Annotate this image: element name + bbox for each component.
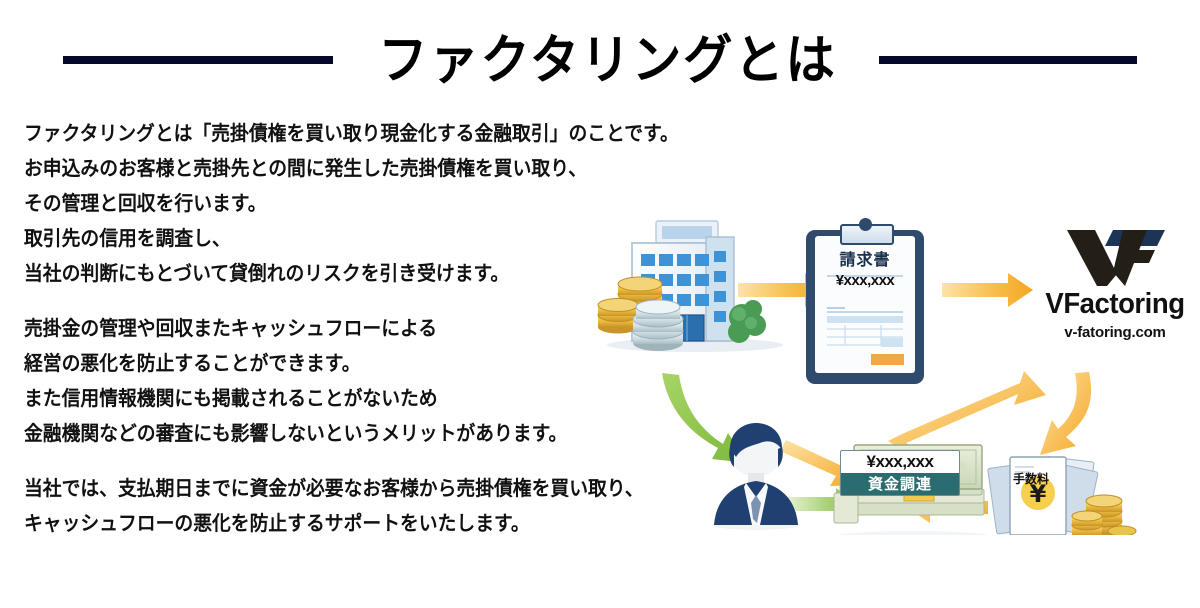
fee-documents-icon: ¥ [988, 456, 1136, 535]
body-line: また信用情報機関にも掲載されることがないため [24, 381, 626, 416]
arrow-invoice-to-logo [942, 273, 1033, 307]
invoice-clipboard: 請求書 ¥xxx,xxx [806, 222, 924, 384]
page-title: ファクタリングとは [378, 34, 836, 87]
client-businessman-icon [712, 423, 800, 530]
title-rule-left [63, 56, 333, 64]
body-line: キャッシュフローの悪化を防止するサポートをいたします。 [24, 506, 626, 541]
body-line: 経営の悪化を防止することができます。 [24, 346, 626, 381]
fee-label: 手数料 [1003, 470, 1059, 487]
paragraph-1: ファクタリングとは「売掛債権を買い取り現金化する金融取引」のことです。 お申込み… [24, 116, 664, 291]
title-rule-right [879, 56, 1137, 64]
cash-amount-label: ¥xxx,xxx 資金調連 [840, 450, 960, 496]
arrow-down-to-fee [1040, 372, 1091, 455]
body-line: 当社では、支払期日までに資金が必要なお客様から売掛債権を買い取り、 [24, 471, 626, 506]
vfactoring-logo: VFactoring v-fatoring.com [1040, 228, 1190, 348]
vf-monogram-icon [1040, 228, 1190, 288]
body-line: その管理と回収を行います。 [24, 186, 626, 221]
poster-root: ファクタリングとは ファクタリングとは「売掛債権を買い取り現金化する金融取引」の… [0, 0, 1200, 608]
invoice-title: 請求書 [806, 246, 924, 270]
logo-domain: v-fatoring.com [1040, 324, 1190, 341]
body-line: 取引先の信用を調査し、 [24, 221, 626, 256]
body-line: 売掛金の管理や回収またキャッシュフローによる [24, 311, 626, 346]
cash-amount: ¥xxx,xxx [841, 451, 959, 473]
body-line: 当社の判断にもとづいて貸倒れのリスクを引き受けます。 [24, 256, 626, 291]
paragraph-3: 当社では、支払期日までに資金が必要なお客様から売掛債権を買い取り、 キャッシュフ… [24, 471, 664, 541]
body-line: 金融機関などの審査にも影響しないというメリットがあります。 [24, 416, 626, 451]
logo-wordmark: VFactoring [1044, 290, 1187, 319]
clipboard-ring [859, 218, 872, 231]
page-title-row: ファクタリングとは [0, 22, 1200, 98]
invoice-amount: ¥xxx,xxx [806, 272, 924, 289]
paragraph-2: 売掛金の管理や回収またキャッシュフローによる 経営の悪化を防止することができます… [24, 311, 664, 451]
body-line: お申込みのお客様と売掛先との間に発生した売掛債権を買い取り、 [24, 151, 626, 186]
body-copy: ファクタリングとは「売掛債権を買い取り現金化する金融取引」のことです。 お申込み… [24, 116, 664, 541]
body-line: ファクタリングとは「売掛債権を買い取り現金化する金融取引」のことです。 [24, 116, 626, 151]
cash-band-label: 資金調連 [841, 473, 959, 495]
